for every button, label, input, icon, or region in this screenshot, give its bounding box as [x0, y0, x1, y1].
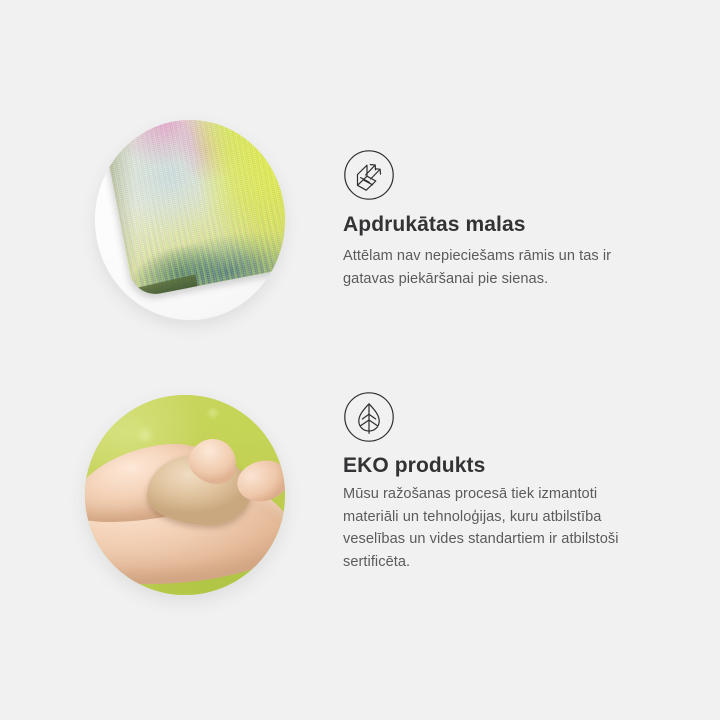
body-line: veselības un vides standartiem ir atbils… — [343, 528, 688, 551]
feature-body-eko-product: Mūsu ražošanas procesā tiek izmantoti ma… — [343, 483, 688, 573]
body-line: gatavas piekāršanai pie sienas. — [343, 268, 683, 291]
body-line: Attēlam nav nepieciešams rāmis un tas ir — [343, 245, 683, 268]
feature-title-printed-edges: Apdrukātas malas — [343, 212, 526, 238]
body-line: materiāli un tehnoloģijas, kuru atbilstī… — [343, 506, 688, 529]
hands-holding-wood-chips-photo — [85, 395, 285, 595]
feature-body-printed-edges: Attēlam nav nepieciešams rāmis un tas ir… — [343, 245, 683, 290]
printed-edges-icon — [344, 150, 394, 200]
body-line: sertificēta. — [343, 551, 688, 574]
canvas-weave-texture — [99, 120, 285, 298]
feature-title-eko-product: EKO produkts — [343, 453, 485, 479]
body-line: Mūsu ražošanas procesā tiek izmantoti — [343, 483, 688, 506]
canvas-print-corner-photo — [95, 120, 285, 320]
leaf-icon — [344, 392, 394, 442]
infographic-page: Apdrukātas malas Attēlam nav nepieciešam… — [0, 0, 720, 720]
canvas-print — [99, 120, 285, 298]
board-clip — [95, 120, 285, 320]
